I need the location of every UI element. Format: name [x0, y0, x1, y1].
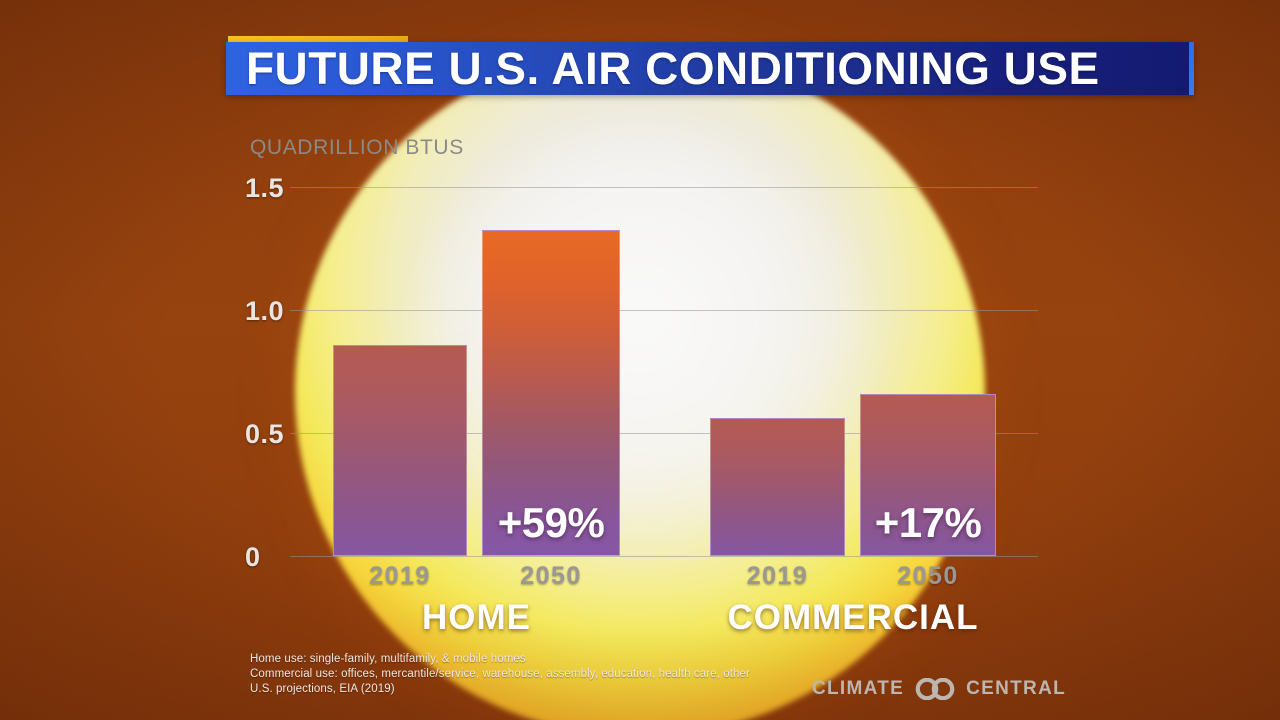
group-label-home: HOME: [333, 598, 620, 638]
x-tick-home-2019: 2019: [333, 562, 467, 591]
x-tick-commercial-2019: 2019: [710, 562, 845, 591]
x-tick-commercial-2050: 2050: [860, 562, 996, 591]
bar-home-2019[interactable]: [333, 345, 467, 556]
brand-text-right: CENTRAL: [966, 678, 1066, 700]
footnote-line-1: Home use: single-family, multifamily, & …: [250, 652, 750, 667]
page-title: FUTURE U.S. AIR CONDITIONING USE: [246, 44, 1100, 93]
y-tick-label-1-5: 1.5: [245, 173, 287, 204]
climate-central-logo: CLIMATE CENTRAL: [812, 678, 1066, 700]
group-label-commercial: COMMERCIAL: [710, 598, 996, 638]
gridline-0: [290, 556, 1038, 557]
bar-home-2050[interactable]: +59%: [482, 230, 620, 556]
bar-annotation-commercial-2050: +17%: [861, 499, 995, 547]
gridline-1-5: [290, 187, 1038, 188]
footnote-line-2: Commercial use: offices, mercantile/serv…: [250, 667, 750, 682]
y-tick-label-0-5: 0.5: [245, 419, 287, 450]
title-banner-edge: [1189, 42, 1194, 95]
bar-annotation-home-2050: +59%: [483, 499, 619, 547]
brand-text-left: CLIMATE: [812, 678, 904, 700]
interlocking-circles-icon: [913, 678, 957, 700]
y-tick-label-1-0: 1.0: [245, 296, 287, 327]
x-tick-home-2050: 2050: [482, 562, 620, 591]
footnote-line-3: U.S. projections, EIA (2019): [250, 682, 750, 697]
infographic-canvas: FUTURE U.S. AIR CONDITIONING USE QUADRIL…: [0, 0, 1280, 720]
footnotes: Home use: single-family, multifamily, & …: [250, 652, 750, 697]
gridline-1-0: [290, 310, 1038, 311]
y-tick-label-0: 0: [245, 542, 287, 573]
bar-commercial-2050[interactable]: +17%: [860, 394, 996, 556]
bar-commercial-2019[interactable]: [710, 418, 845, 556]
y-axis-caption: QUADRILLION BTUS: [250, 136, 464, 160]
